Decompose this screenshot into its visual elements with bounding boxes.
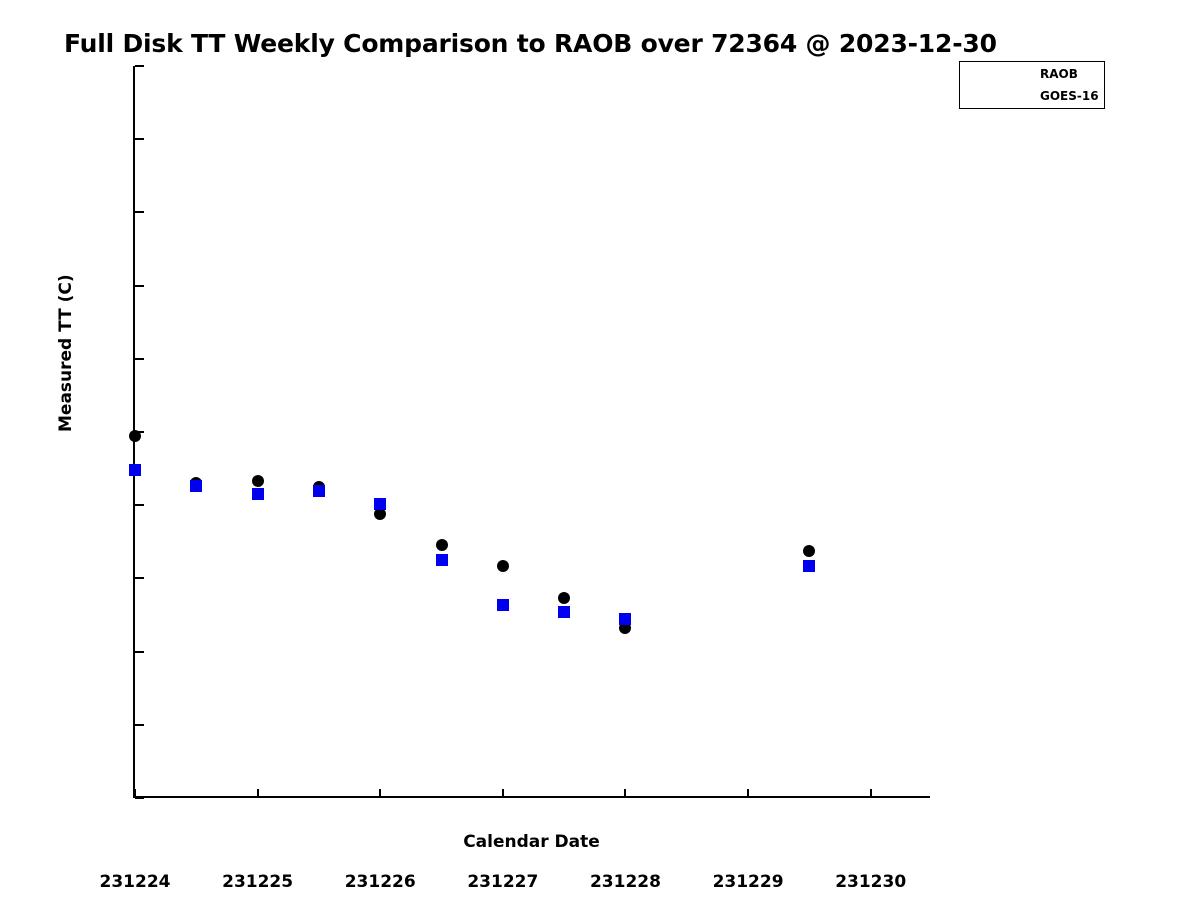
x-tick-label: 231229 xyxy=(713,872,784,892)
data-point-raob xyxy=(497,560,509,572)
y-tick-mark xyxy=(135,65,144,67)
y-tick-mark xyxy=(135,651,144,653)
x-tick-mark xyxy=(747,789,749,798)
legend-marker-circle-icon xyxy=(998,68,1011,81)
y-tick-mark xyxy=(135,211,144,213)
plot-area: 0102030405060708090100 23122423122523122… xyxy=(133,66,930,798)
legend-label-raob: RAOB xyxy=(1040,67,1078,81)
y-tick-mark xyxy=(135,577,144,579)
data-point-raob xyxy=(558,592,570,604)
x-tick-mark xyxy=(624,789,626,798)
y-tick-mark xyxy=(135,138,144,140)
data-point-goes-16 xyxy=(129,464,141,476)
chart-title: Full Disk TT Weekly Comparison to RAOB o… xyxy=(64,29,997,58)
y-tick-mark xyxy=(135,504,144,506)
y-tick-mark xyxy=(135,797,144,799)
data-point-goes-16 xyxy=(190,480,202,492)
chart-figure: Full Disk TT Weekly Comparison to RAOB o… xyxy=(0,0,1200,900)
x-tick-mark xyxy=(870,789,872,798)
x-tick-mark xyxy=(502,789,504,798)
x-tick-label: 231230 xyxy=(835,872,906,892)
x-tick-label: 231228 xyxy=(590,872,661,892)
legend-marker-square-icon xyxy=(998,91,1010,103)
data-point-goes-16 xyxy=(252,488,264,500)
data-point-goes-16 xyxy=(313,485,325,497)
data-point-goes-16 xyxy=(803,560,815,572)
x-tick-mark xyxy=(134,789,136,798)
data-point-raob xyxy=(436,539,448,551)
legend-entry-raob: RAOB xyxy=(960,64,1104,86)
y-axis-title: Measured TT (C) xyxy=(56,274,76,432)
data-point-raob xyxy=(252,475,264,487)
y-tick-mark xyxy=(135,358,144,360)
x-axis-title: Calendar Date xyxy=(133,832,930,852)
data-point-goes-16 xyxy=(436,554,448,566)
data-point-goes-16 xyxy=(558,606,570,618)
legend-entry-goes16: GOES-16 xyxy=(960,86,1104,108)
data-point-goes-16 xyxy=(619,613,631,625)
chart-legend: RAOB GOES-16 xyxy=(959,61,1105,109)
x-tick-mark xyxy=(257,789,259,798)
data-point-goes-16 xyxy=(374,498,386,510)
data-point-goes-16 xyxy=(497,599,509,611)
data-point-raob xyxy=(803,545,815,557)
x-tick-label: 231225 xyxy=(222,872,293,892)
x-tick-label: 231226 xyxy=(345,872,416,892)
x-tick-mark xyxy=(379,789,381,798)
y-tick-mark xyxy=(135,724,144,726)
x-tick-label: 231227 xyxy=(467,872,538,892)
y-tick-mark xyxy=(135,285,144,287)
x-tick-label: 231224 xyxy=(100,872,171,892)
data-point-raob xyxy=(129,430,141,442)
legend-label-goes16: GOES-16 xyxy=(1040,89,1099,103)
